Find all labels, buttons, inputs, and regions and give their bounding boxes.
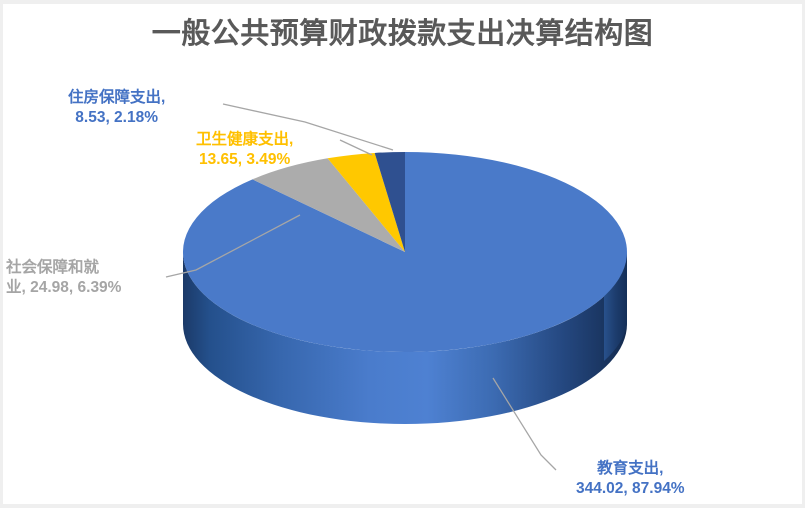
- data-label-housing-line1: 住房保障支出,: [68, 88, 165, 108]
- data-label-housing: 住房保障支出, 8.53, 2.18%: [68, 88, 165, 128]
- data-label-health-line1: 卫生健康支出,: [196, 130, 293, 150]
- pie-top-face: [183, 152, 627, 352]
- data-label-social-security-line2: 业, 24.98, 6.39%: [6, 278, 166, 298]
- chart-container: 一般公共预算财政拨款支出决算结构图: [0, 0, 805, 508]
- data-label-education: 教育支出, 344.02, 87.94%: [576, 459, 685, 499]
- data-label-education-line2: 344.02, 87.94%: [576, 479, 685, 499]
- pie-chart-graphic: [0, 0, 805, 508]
- data-label-social-security-line1: 社会保障和就: [6, 258, 166, 278]
- data-label-health: 卫生健康支出, 13.65, 3.49%: [196, 130, 293, 170]
- data-label-health-line2: 13.65, 3.49%: [196, 150, 293, 170]
- data-label-social-security: 社会保障和就 业, 24.98, 6.39%: [6, 258, 166, 298]
- data-label-housing-line2: 8.53, 2.18%: [68, 108, 165, 128]
- data-label-education-line1: 教育支出,: [576, 459, 685, 479]
